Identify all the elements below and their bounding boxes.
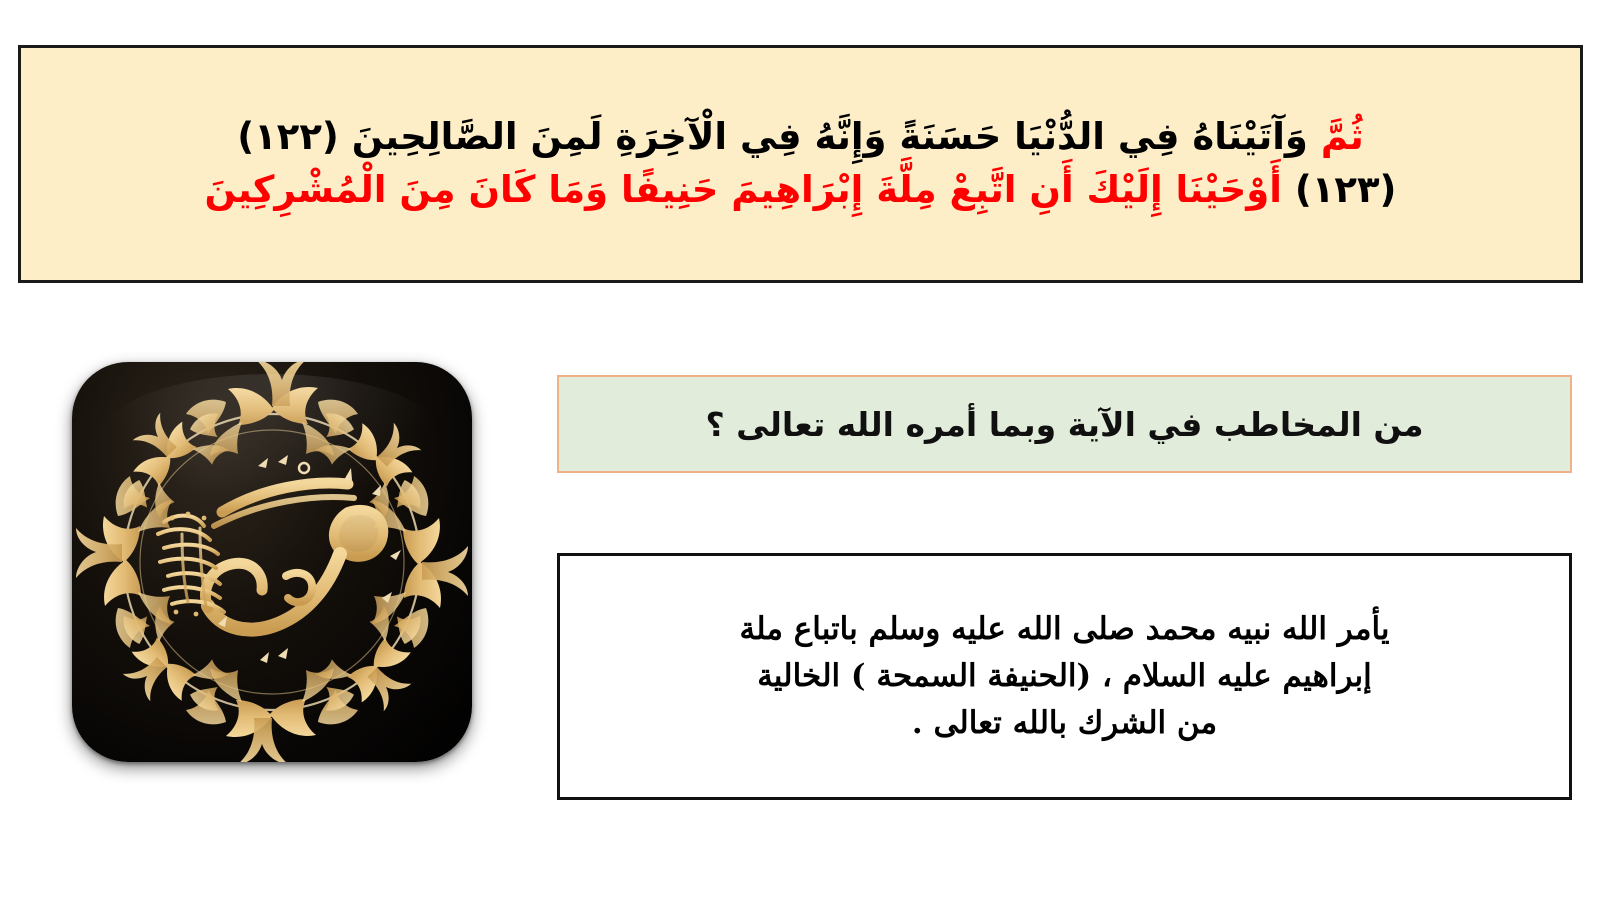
ayah-banner: ثُمَّ وَآتَيْنَاهُ فِي الدُّنْيَا حَسَنَ…: [18, 45, 1583, 283]
question-box: من المخاطب في الآية وبما أمره الله تعالى…: [557, 375, 1572, 473]
ayah-line2-red-segment: أَوْحَيْنَا إِلَيْكَ أَنِ اتَّبِعْ مِلَّ…: [205, 168, 1282, 211]
ayah-line-2: (١٢٣) أَوْحَيْنَا إِلَيْكَ أَنِ اتَّبِعْ…: [33, 164, 1568, 217]
calligraphy-image: [72, 362, 472, 762]
ayah-line1-black-segment: وَآتَيْنَاهُ فِي الدُّنْيَا حَسَنَةً وَإ…: [237, 115, 1308, 158]
question-text: من المخاطب في الآية وبما أمره الله تعالى…: [687, 405, 1441, 444]
ayah-line1-red-segment: ثُمَّ: [1321, 115, 1364, 158]
answer-line-3: من الشرك بالله تعالى .: [574, 700, 1555, 747]
answer-line-2: إبراهيم عليه السلام ، (الحنيفة السمحة ) …: [574, 653, 1555, 700]
ayah-line2-black-segment: (١٢٣): [1295, 168, 1397, 211]
calligraphy-frame: [72, 362, 472, 762]
answer-line-1: يأمر الله نبيه محمد صلى الله عليه وسلم ب…: [574, 606, 1555, 653]
ayah-line-1: ثُمَّ وَآتَيْنَاهُ فِي الدُّنْيَا حَسَنَ…: [33, 111, 1568, 164]
muhammad-calligraphy-medallion-icon: [72, 362, 472, 762]
answer-box: يأمر الله نبيه محمد صلى الله عليه وسلم ب…: [557, 553, 1572, 800]
